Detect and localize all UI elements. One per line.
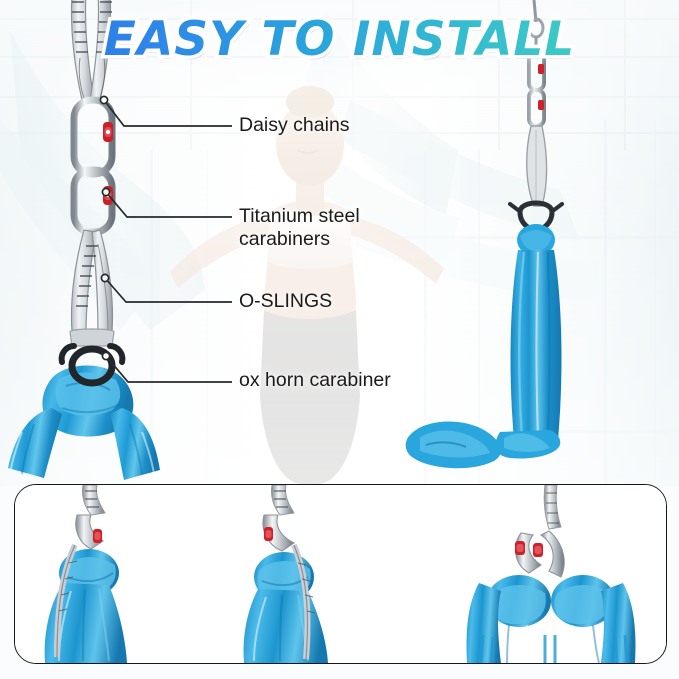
dual-knot-closeup-right xyxy=(449,485,666,663)
closeup-cell-3 xyxy=(449,485,666,663)
closeup-strip-panel xyxy=(14,484,667,664)
callout-anchor-dot xyxy=(102,352,109,359)
page-title: EASY TO INSTALL xyxy=(0,12,679,67)
callout-label-ox-horn-carabiner: ox horn carabiner xyxy=(239,369,391,392)
callout-anchor-dot xyxy=(100,96,107,103)
callout-anchor-dot xyxy=(101,274,108,281)
closeup-cell-2 xyxy=(232,485,449,663)
callout-label-titanium-steel-carabiners: Titanium steel carabiners xyxy=(239,205,360,250)
closeup-cell-1 xyxy=(15,485,232,663)
callout-label-daisy-chains: Daisy chains xyxy=(239,114,350,137)
callout-label-o-slings: O-SLINGS xyxy=(239,290,332,313)
knot-closeup-middle xyxy=(232,485,449,663)
callout-anchor-dot xyxy=(102,188,109,195)
infographic-root: EASY TO INSTALL EASY TO INSTALL Daisy ch… xyxy=(0,0,679,679)
knot-closeup-left xyxy=(15,485,232,663)
